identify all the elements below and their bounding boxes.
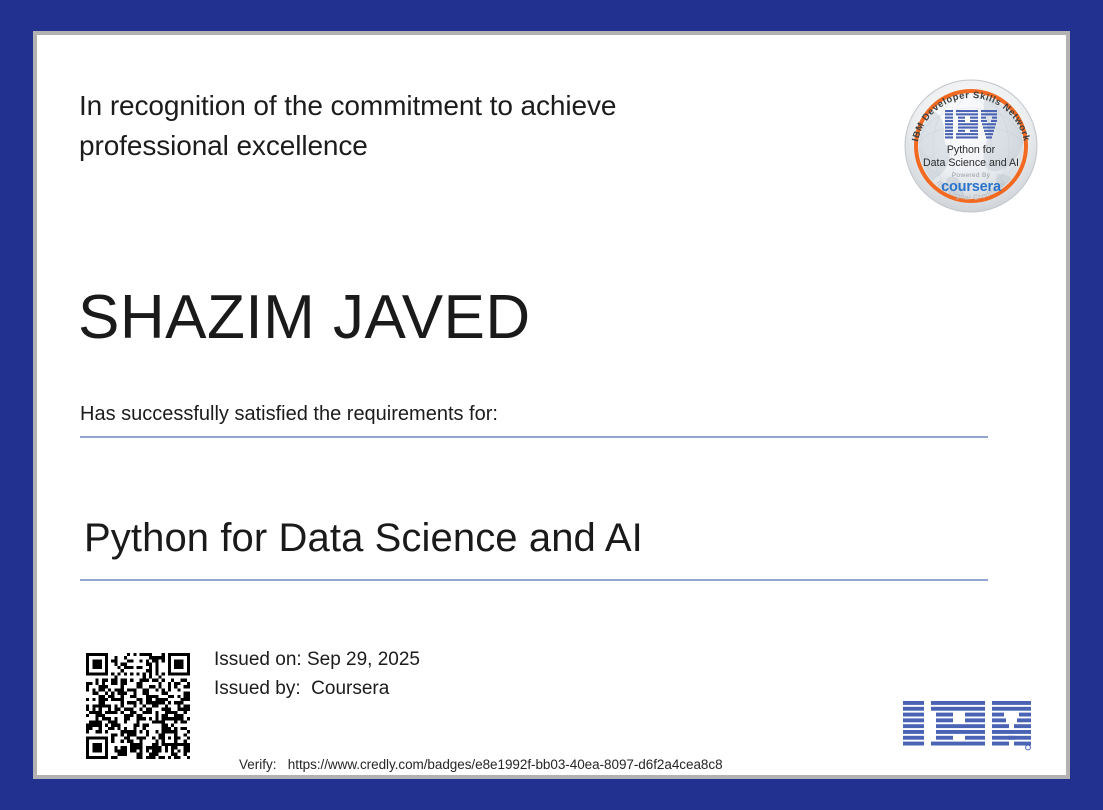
- credential-badge: IBM Developer Skills Network IBM Digital…: [901, 74, 1041, 221]
- badge-title-line2: Data Science and AI: [923, 157, 1019, 169]
- ibm-logo: [903, 701, 1031, 751]
- badge-title-line1: Python for: [947, 144, 996, 156]
- recognition-headline: In recognition of the commitment to achi…: [79, 86, 739, 166]
- issue-details: Issued on: Sep 29, 2025 Issued by: Cours…: [214, 646, 420, 704]
- certificate-frame: In recognition of the commitment to achi…: [0, 0, 1103, 810]
- verify-label: Verify:: [239, 757, 277, 772]
- verify-url-link[interactable]: https://www.credly.com/badges/e8e1992f-b…: [288, 757, 723, 772]
- qr-code[interactable]: [86, 653, 190, 759]
- certificate-card: In recognition of the commitment to achi…: [33, 31, 1070, 779]
- recipient-name: SHAZIM JAVED: [78, 287, 531, 349]
- divider-below-course: [80, 579, 988, 581]
- verify-row: Verify: https://www.credly.com/badges/e8…: [209, 742, 723, 787]
- badge-partner-label: coursera: [941, 179, 1002, 195]
- requirements-subtitle: Has successfully satisfied the requireme…: [80, 403, 498, 426]
- divider-above-course: [80, 436, 988, 438]
- badge-powered-by-label: Powered By: [952, 172, 991, 179]
- qr-code-canvas[interactable]: [86, 653, 190, 759]
- certificate-content: In recognition of the commitment to achi…: [37, 35, 1066, 775]
- issued-on-line: Issued on: Sep 29, 2025: [214, 646, 420, 675]
- issued-by-line: Issued by: Coursera: [214, 675, 420, 704]
- badge-ibm-logo: [945, 110, 997, 139]
- course-title: Python for Data Science and AI: [84, 518, 643, 558]
